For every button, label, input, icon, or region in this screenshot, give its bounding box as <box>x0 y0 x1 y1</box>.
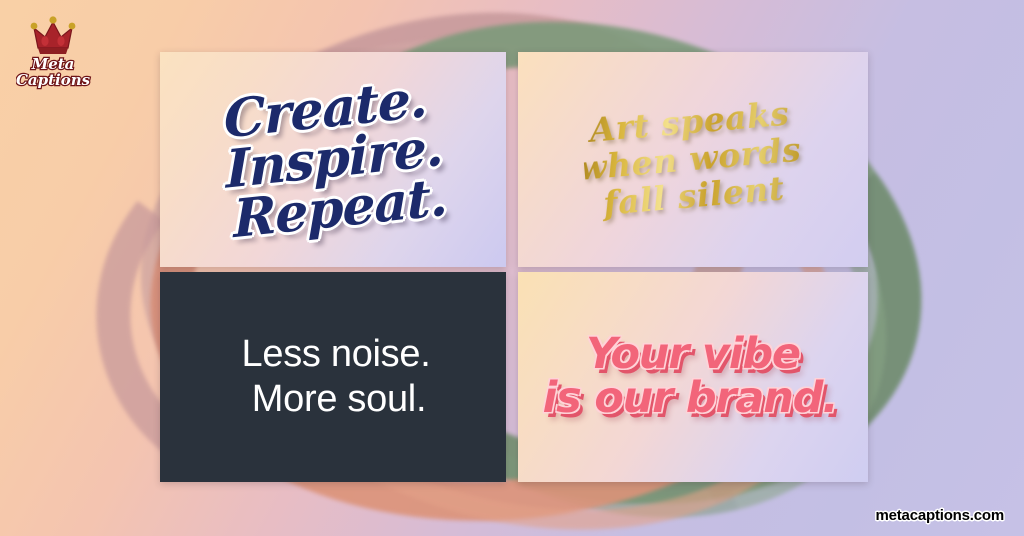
brand-logo: Meta Captions <box>16 14 102 92</box>
quote-text-art-speaks: Art speaks when words fall silent <box>580 95 806 224</box>
crown-icon <box>31 16 76 54</box>
wordmark: Meta Captions <box>16 55 91 89</box>
quote-card-less-noise-more-soul[interactable]: Less noise. More soul. <box>160 272 506 482</box>
quote-line: Less noise. <box>242 332 431 377</box>
quote-card-your-vibe-is-our-brand[interactable]: Your vibe is our brand. <box>518 272 868 482</box>
quote-text-your-vibe-is-our-brand: Your vibe is our brand. <box>549 333 838 421</box>
quote-line: More soul. <box>248 377 431 422</box>
quote-card-art-speaks[interactable]: Art speaks when words fall silent <box>518 52 868 267</box>
quote-card-create-inspire-repeat[interactable]: Create. Inspire. Repeat. <box>160 52 506 267</box>
quote-line: Your vibe <box>549 333 838 377</box>
quote-card-grid: Create. Inspire. Repeat. Art speaks when… <box>160 52 868 482</box>
logo-line-2: Captions <box>16 71 91 89</box>
site-watermark: metacaptions.com <box>875 507 1004 524</box>
quote-line: is our brand. <box>543 377 838 421</box>
quote-text-less-noise-more-soul: Less noise. More soul. <box>242 332 431 422</box>
quote-text-create-inspire-repeat: Create. Inspire. Repeat. <box>205 72 447 247</box>
